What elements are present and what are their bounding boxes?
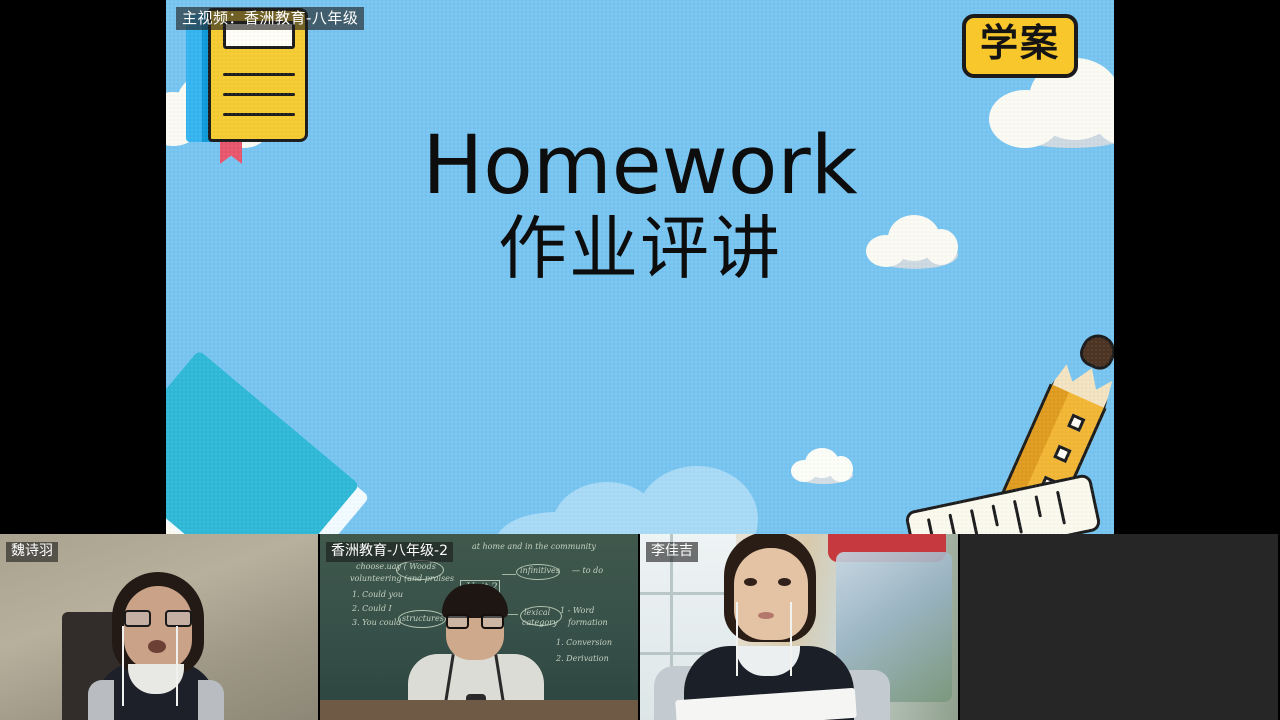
cloud-icon — [496, 466, 756, 534]
participant-tile[interactable]: 魏诗羽 — [0, 534, 318, 720]
participant-name-label: 李佳吉 — [646, 542, 698, 562]
ruler-icon — [904, 473, 1102, 534]
paper-illustration — [166, 350, 360, 534]
slide-title-chinese: 作业评讲 — [166, 213, 1114, 285]
lesson-plan-badge-label: 学案 — [980, 21, 1060, 65]
lesson-plan-badge: 学案 — [962, 14, 1078, 78]
participant-tile-empty[interactable] — [960, 534, 1278, 720]
video-conference-window: Homework 作业评讲 学案 主视频：香洲教育-八年级 — [0, 0, 1280, 720]
slide-title-english: Homework — [166, 126, 1114, 207]
slide-title-block: Homework 作业评讲 — [166, 126, 1114, 285]
participant-strip: 魏诗羽 at home and in the community choose.… — [0, 534, 1280, 720]
main-video-stage[interactable]: Homework 作业评讲 学案 主视频：香洲教育-八年级 — [0, 0, 1280, 534]
participant-tile[interactable]: 李佳吉 — [640, 534, 958, 720]
main-video-name-label: 主视频：香洲教育-八年级 — [176, 7, 364, 30]
participant-tile[interactable]: at home and in the community choose.uay … — [320, 534, 638, 720]
shared-slide[interactable]: Homework 作业评讲 学案 — [166, 0, 1114, 534]
participant-name-label: 魏诗羽 — [6, 542, 58, 562]
video-feed-placeholder — [960, 534, 1278, 720]
cloud-icon — [791, 448, 853, 484]
participant-name-label: 香洲教育-八年级-2 — [326, 542, 453, 562]
